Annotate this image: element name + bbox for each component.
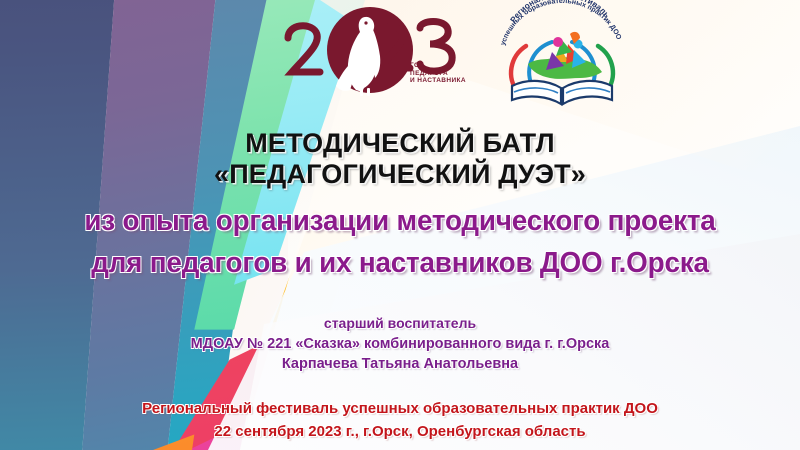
slide-title-line1: МЕТОДИЧЕСКИЙ БАТЛ [0, 128, 800, 159]
slide-subtitle-line1: из опыта организации методического проек… [16, 200, 784, 242]
presentation-slide: ГОД ПЕДАГОГА И НАСТАВНИКА Региональный ф… [0, 0, 800, 450]
logo-2023-caption-line3: И НАСТАВНИКА [410, 77, 466, 85]
slide-title-primary: МЕТОДИЧЕСКИЙ БАТЛ «ПЕДАГОГИЧЕСКИЙ ДУЭТ» [0, 128, 800, 189]
logo-2023-caption-line2: ПЕДАГОГА [410, 70, 466, 78]
logo-regional-festival: Региональный фестиваль успешных образова… [492, 0, 632, 112]
event-footer-line1: Региональный фестиваль успешных образова… [0, 398, 800, 421]
slide-title-line2: «ПЕДАГОГИЧЕСКИЙ ДУЭТ» [0, 159, 800, 190]
event-footer: Региональный фестиваль успешных образова… [0, 398, 800, 443]
author-name: Карпачева Татьяна Анатольевна [0, 354, 800, 375]
author-role: старший воспитатель [0, 314, 800, 334]
author-organization: МДОАУ № 221 «Сказка» комбинированного ви… [0, 334, 800, 355]
logo-year-of-teacher: ГОД ПЕДАГОГА И НАСТАВНИКА [270, 4, 470, 106]
author-credits: старший воспитатель МДОАУ № 221 «Сказка»… [0, 314, 800, 375]
event-footer-line2: 22 сентября 2023 г., г.Орск, Оренбургска… [0, 421, 800, 444]
slide-subtitle: из опыта организации методического проек… [16, 200, 784, 284]
logo-2023-caption-line1: ГОД [410, 62, 466, 70]
slide-subtitle-line2: для педагогов и их наставников ДОО г.Орс… [16, 242, 784, 284]
